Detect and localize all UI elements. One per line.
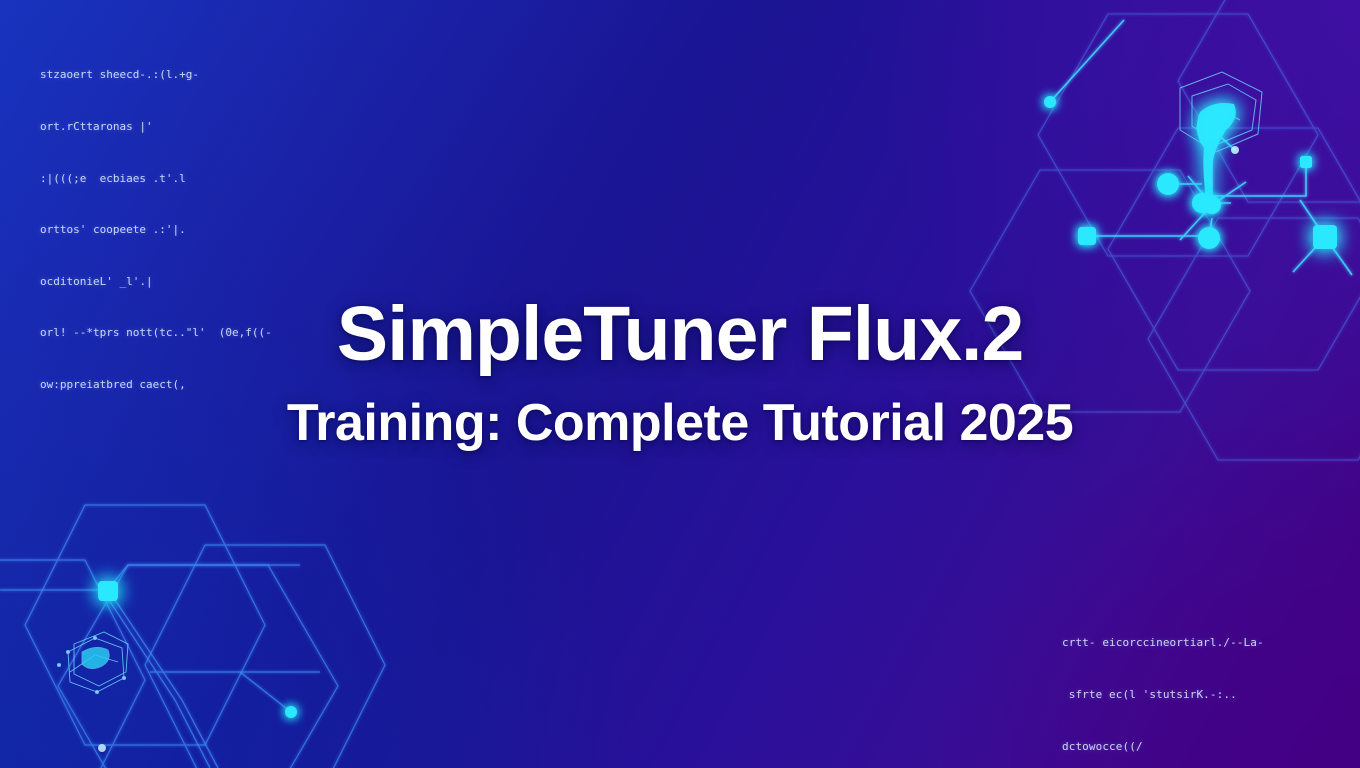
title-slide: stzaoert sheecd-.:(l.+g- ort.rCttaronas … — [0, 0, 1360, 768]
code-line: stzaoert sheecd-.:(l.+g- — [40, 66, 272, 83]
pseudo-code-text-bottom-right: crtt- eicorccineortiarl./--La- sfrte ec(… — [1062, 600, 1324, 768]
code-line: :|(((;e ecbiaes .t'.l — [40, 170, 272, 187]
code-line: ocditonieL' _l'.| — [40, 273, 272, 290]
code-line: crtt- eicorccineortiarl./--La- — [1062, 634, 1324, 651]
page-subtitle: Training: Complete Tutorial 2025 — [0, 397, 1360, 449]
code-line: orttos' coopeete .:'|. — [40, 221, 272, 238]
code-line: ort.rCttaronas |' — [40, 118, 272, 135]
heading-block: SimpleTuner Flux.2 Training: Complete Tu… — [0, 296, 1360, 449]
code-line: sfrte ec(l 'stutsirK.-:.. — [1062, 686, 1324, 703]
page-title: SimpleTuner Flux.2 — [0, 296, 1360, 373]
code-line: dctowocce((/ — [1062, 738, 1324, 755]
